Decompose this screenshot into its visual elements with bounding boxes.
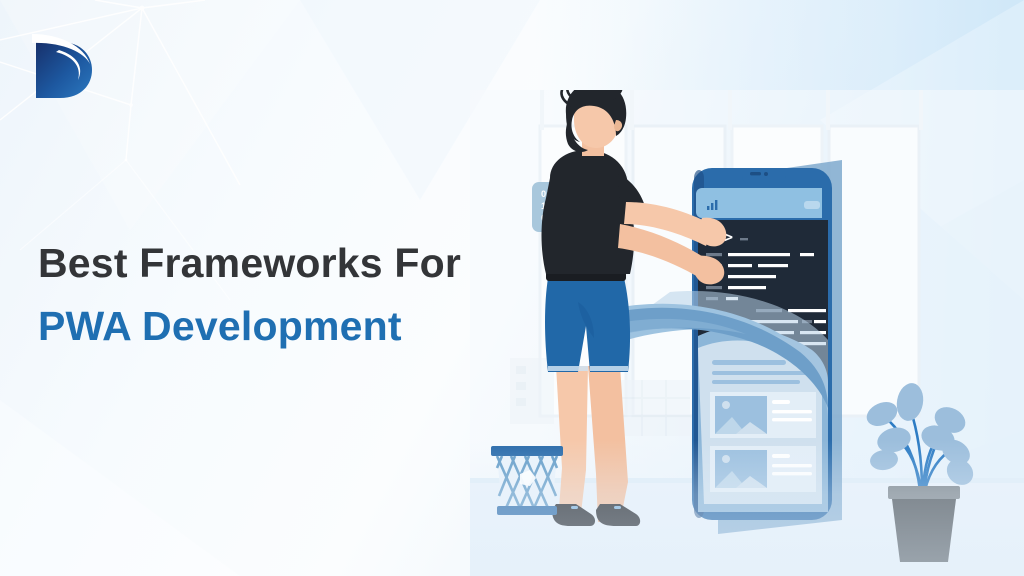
stylized-letter-d-logo (26, 26, 98, 104)
illustration: 01001100011 10011100110 00110011101 (470, 90, 1024, 576)
headline-block: Best Frameworks For PWA Development (38, 243, 508, 347)
headline-line-1: Best Frameworks For (38, 243, 508, 284)
headline-line-2: PWA Development (38, 306, 508, 347)
pwa-banner: Best Frameworks For PWA Development (0, 0, 1024, 576)
floor (470, 440, 1024, 576)
